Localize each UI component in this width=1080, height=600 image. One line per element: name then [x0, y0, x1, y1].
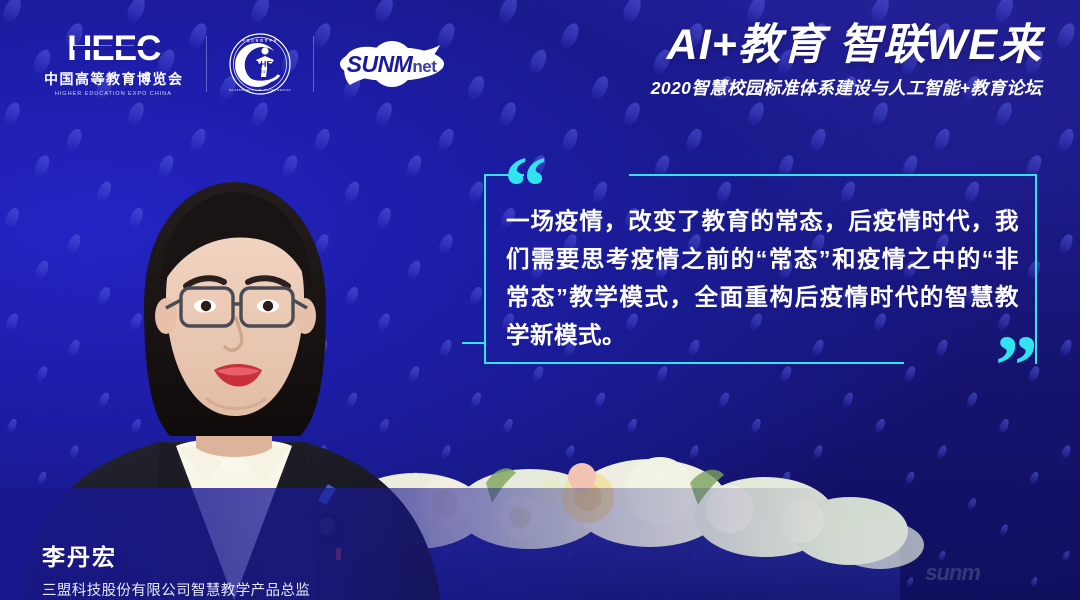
heec-wordmark: HEEC: [67, 31, 160, 66]
heec-logo: HEEC 中国高等教育博览会 HIGHER EDUCATION EXPO CHI…: [44, 31, 184, 97]
sunmnet-logo: SUNMnet: [336, 39, 448, 89]
heec-english-name: HIGHER EDUCATION EXPO CHINA: [55, 91, 172, 97]
quote-text: 一场疫情，改变了教育的常态，后疫情时代，我们需要思考疫情之前的“常态”和疫情之中…: [506, 202, 1019, 354]
speaker-role: 三盟科技股份有限公司智慧教学产品总监: [42, 579, 310, 600]
cahe-logo: CAHE 1992.5 中国高等教育学会 CHINA ASSOCIATION O…: [229, 33, 291, 95]
sunmnet-wordmark: SUNMnet: [347, 53, 437, 76]
quote-card: “ ” 一场疫情，改变了教育的常态，后疫情时代，我们需要思考疫情之前的“常态”和…: [484, 174, 1037, 364]
poster-canvas: sunm HEEC 中国高等教育博览会 HIGHER EDUCATION EXP…: [0, 0, 1080, 600]
speaker-identity: 李丹宏 三盟科技股份有限公司智慧教学产品总监: [42, 544, 310, 600]
page-title: AI+教育 智联WE来: [651, 22, 1042, 68]
quote-frame-bottom-tick: [462, 342, 484, 344]
logo-divider-1: [206, 36, 207, 92]
quote-frame-bottom: [484, 362, 904, 364]
title-block: AI+教育 智联WE来 2020智慧校园标准体系建设与人工智能+教育论坛: [651, 22, 1042, 100]
logo-divider-2: [313, 36, 314, 92]
svg-text:CHINA ASSOCIATION OF HIGHER ED: CHINA ASSOCIATION OF HIGHER EDUCATION: [229, 89, 291, 92]
quote-close-mark: ”: [995, 322, 1038, 408]
heec-chinese-name: 中国高等教育博览会: [44, 69, 184, 89]
quote-frame-top-right: [629, 174, 1037, 176]
svg-text:中国高等教育学会: 中国高等教育学会: [242, 38, 278, 43]
logo-group: HEEC 中国高等教育博览会 HIGHER EDUCATION EXPO CHI…: [44, 31, 448, 97]
svg-text:1992.5: 1992.5: [254, 70, 264, 74]
svg-text:CAHE: CAHE: [247, 59, 271, 69]
quote-frame-left: [484, 174, 486, 364]
quote-open-mark: “: [504, 143, 547, 229]
page-subtitle: 2020智慧校园标准体系建设与人工智能+教育论坛: [651, 75, 1042, 100]
speaker-name: 李丹宏: [42, 544, 310, 572]
